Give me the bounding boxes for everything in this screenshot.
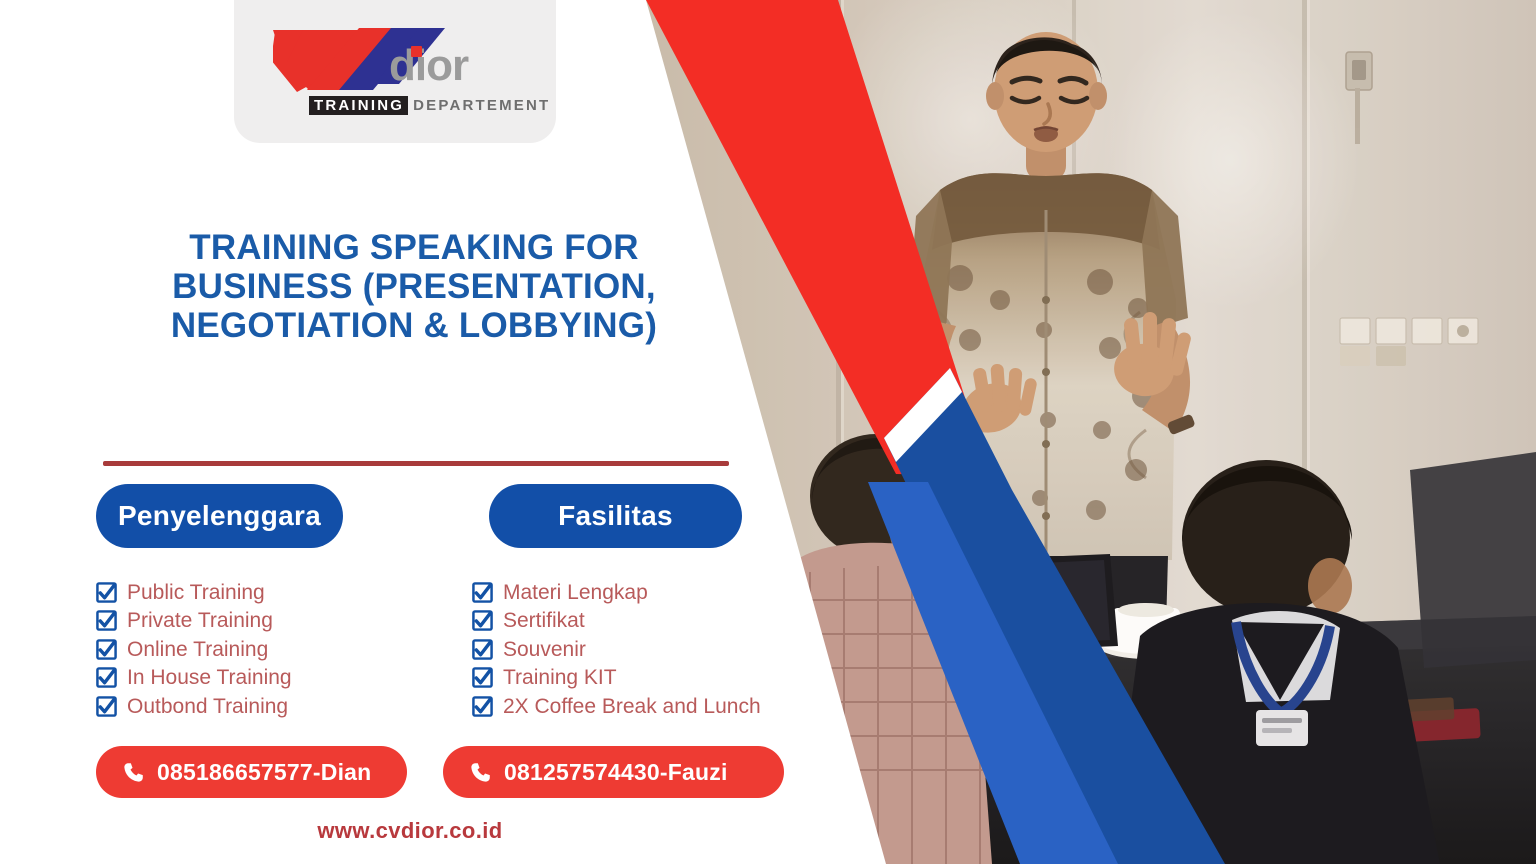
list-item: In House Training (96, 664, 436, 693)
red-divider-line (103, 461, 729, 466)
list-item: Sertifikat (472, 607, 820, 636)
list-item: Online Training (96, 635, 436, 664)
phone-button-dian[interactable]: 085186657577-Dian (96, 746, 407, 798)
checkbox-checked-icon (96, 582, 117, 603)
heading-pill-penyelenggara: Penyelenggara (96, 484, 343, 548)
website-url[interactable]: www.cvdior.co.id (0, 818, 820, 844)
checkbox-checked-icon (472, 639, 493, 660)
list-item-label: Training KIT (503, 667, 617, 688)
logo-tagline: TRAINING DEPARTEMENT (309, 96, 550, 116)
logo-tagline-training: TRAINING (309, 96, 408, 116)
checkbox-checked-icon (96, 639, 117, 660)
checkbox-checked-icon (96, 667, 117, 688)
checkbox-checked-icon (472, 696, 493, 717)
list-item-label: Outbond Training (127, 696, 288, 717)
list-item: Private Training (96, 607, 436, 636)
checkbox-checked-icon (472, 582, 493, 603)
list-item: Public Training (96, 578, 436, 607)
list-item: Materi Lengkap (472, 578, 820, 607)
checkbox-checked-icon (96, 610, 117, 631)
phone-button-label: 085186657577-Dian (157, 759, 371, 786)
logo-wordmark: dior (389, 44, 468, 88)
list-item-label: Materi Lengkap (503, 582, 648, 603)
list-item-label: In House Training (127, 667, 292, 688)
contact-buttons: 085186657577-Dian 081257574430-Fauzi (0, 746, 820, 798)
checklist-penyelenggara: Public Training Private Training (96, 578, 436, 721)
list-item-label: Private Training (127, 610, 273, 631)
heading-pill-fasilitas: Fasilitas (489, 484, 742, 548)
flyer-content-column: dior TRAINING DEPARTEMENT TRAINING SPEAK… (0, 0, 820, 864)
phone-icon (122, 761, 145, 784)
page-title: TRAINING SPEAKING FOR BUSINESS (PRESENTA… (104, 228, 724, 346)
list-item-label: Public Training (127, 582, 265, 603)
checkbox-checked-icon (472, 610, 493, 631)
list-item-label: Online Training (127, 639, 268, 660)
list-item: 2X Coffee Break and Lunch (472, 692, 820, 721)
brand-logo-panel: dior TRAINING DEPARTEMENT (234, 0, 556, 143)
phone-button-label: 081257574430-Fauzi (504, 759, 728, 786)
column-penyelenggara: Penyelenggara Public Training (96, 484, 436, 721)
phone-button-fauzi[interactable]: 081257574430-Fauzi (443, 746, 784, 798)
list-item: Souvenir (472, 635, 820, 664)
checklist-fasilitas: Materi Lengkap Sertifikat (472, 578, 820, 721)
checkbox-checked-icon (96, 696, 117, 717)
checkbox-checked-icon (472, 667, 493, 688)
logo-tagline-departement: DEPARTEMENT (410, 98, 550, 114)
column-fasilitas: Fasilitas Materi Lengkap (472, 484, 820, 721)
logo-red-dot (411, 46, 422, 57)
list-item-label: Souvenir (503, 639, 586, 660)
promotional-flyer: dior TRAINING DEPARTEMENT TRAINING SPEAK… (0, 0, 1536, 864)
phone-icon (469, 761, 492, 784)
list-item-label: 2X Coffee Break and Lunch (503, 696, 761, 717)
list-item: Outbond Training (96, 692, 436, 721)
list-item: Training KIT (472, 664, 820, 693)
list-item-label: Sertifikat (503, 610, 585, 631)
